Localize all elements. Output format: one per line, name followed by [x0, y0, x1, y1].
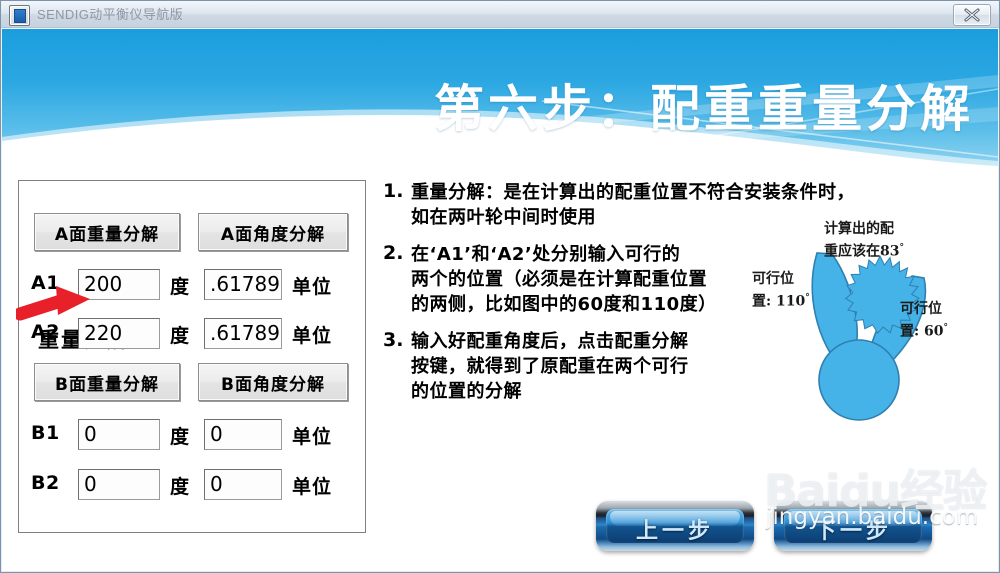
window-title: SENDIG动平衡仪导航版 [37, 5, 183, 25]
instruction-number: 3. [383, 329, 411, 351]
next-step-label: 下一步 [774, 513, 932, 545]
app-icon [9, 5, 30, 26]
a-angle-decompose-button[interactable]: A面角度分解 [198, 213, 348, 251]
diagram-label-position-60: 可行位 置: 60° [900, 300, 948, 342]
red-arrow-icon [16, 284, 94, 324]
b1-weight-unit: 单位 [292, 422, 332, 449]
b-weight-decompose-button[interactable]: B面重量分解 [34, 363, 180, 401]
page-title: 第六步：配重重量分解 [434, 69, 974, 141]
instruction-number: 1. [383, 180, 411, 202]
b1-angle-unit: 度 [170, 422, 190, 449]
a2-angle-unit: 度 [170, 321, 190, 348]
row-label-a2: A2 [31, 321, 60, 343]
b-angle-decompose-button[interactable]: B面角度分解 [198, 363, 348, 401]
impeller-diagram: 计算出的配 重应该在83° 可行位 置: 110° 可行位 置: 60° [754, 228, 994, 423]
previous-step-button[interactable]: 上一步 [596, 501, 754, 551]
diagram-label-calculated: 计算出的配 重应该在83° [824, 220, 904, 262]
title-bar: SENDIG动平衡仪导航版 [1, 1, 999, 28]
a2-weight-input[interactable]: .61789 [204, 318, 282, 349]
degree-sup-top: ° [899, 243, 904, 253]
degree-sup-right: ° [944, 323, 949, 333]
b2-angle-unit: 度 [170, 472, 190, 499]
instruction-number: 2. [383, 242, 411, 264]
degree-sup-left: ° [805, 293, 810, 303]
a1-weight-unit: 单位 [292, 272, 332, 299]
b2-angle-input[interactable]: 0 [78, 469, 160, 500]
a2-weight-unit: 单位 [292, 321, 332, 348]
b2-weight-input[interactable]: 0 [204, 469, 282, 500]
diagram-label-position-110: 可行位 置: 110° [752, 270, 810, 312]
instruction-text: 重量分解：是在计算出的配重位置不符合安装条件时， 如在两叶轮中间时使用 [411, 180, 995, 230]
header-banner: 第六步：配重重量分解 [2, 29, 998, 166]
close-icon [963, 8, 981, 22]
row-label-b1: B1 [31, 422, 60, 444]
row-label-b2: B2 [31, 472, 60, 494]
next-step-button[interactable]: 下一步 [774, 501, 932, 551]
previous-step-label: 上一步 [596, 513, 754, 545]
b2-weight-unit: 单位 [292, 472, 332, 499]
b1-angle-input[interactable]: 0 [78, 419, 160, 450]
paw-icon [836, 439, 898, 483]
content-area: 重量分解 A面重量分解 A面角度分解 A1 200 度 .61789 单位 A2… [2, 166, 998, 571]
b1-weight-input[interactable]: 0 [204, 419, 282, 450]
app-window: SENDIG动平衡仪导航版 第六步：配重重量分解 重量分解 A面重量分解 A面角… [0, 0, 1000, 573]
a-weight-decompose-button[interactable]: A面重量分解 [34, 213, 180, 251]
a1-weight-input[interactable]: .61789 [204, 269, 282, 300]
a1-angle-unit: 度 [170, 272, 190, 299]
close-button[interactable] [953, 4, 991, 26]
